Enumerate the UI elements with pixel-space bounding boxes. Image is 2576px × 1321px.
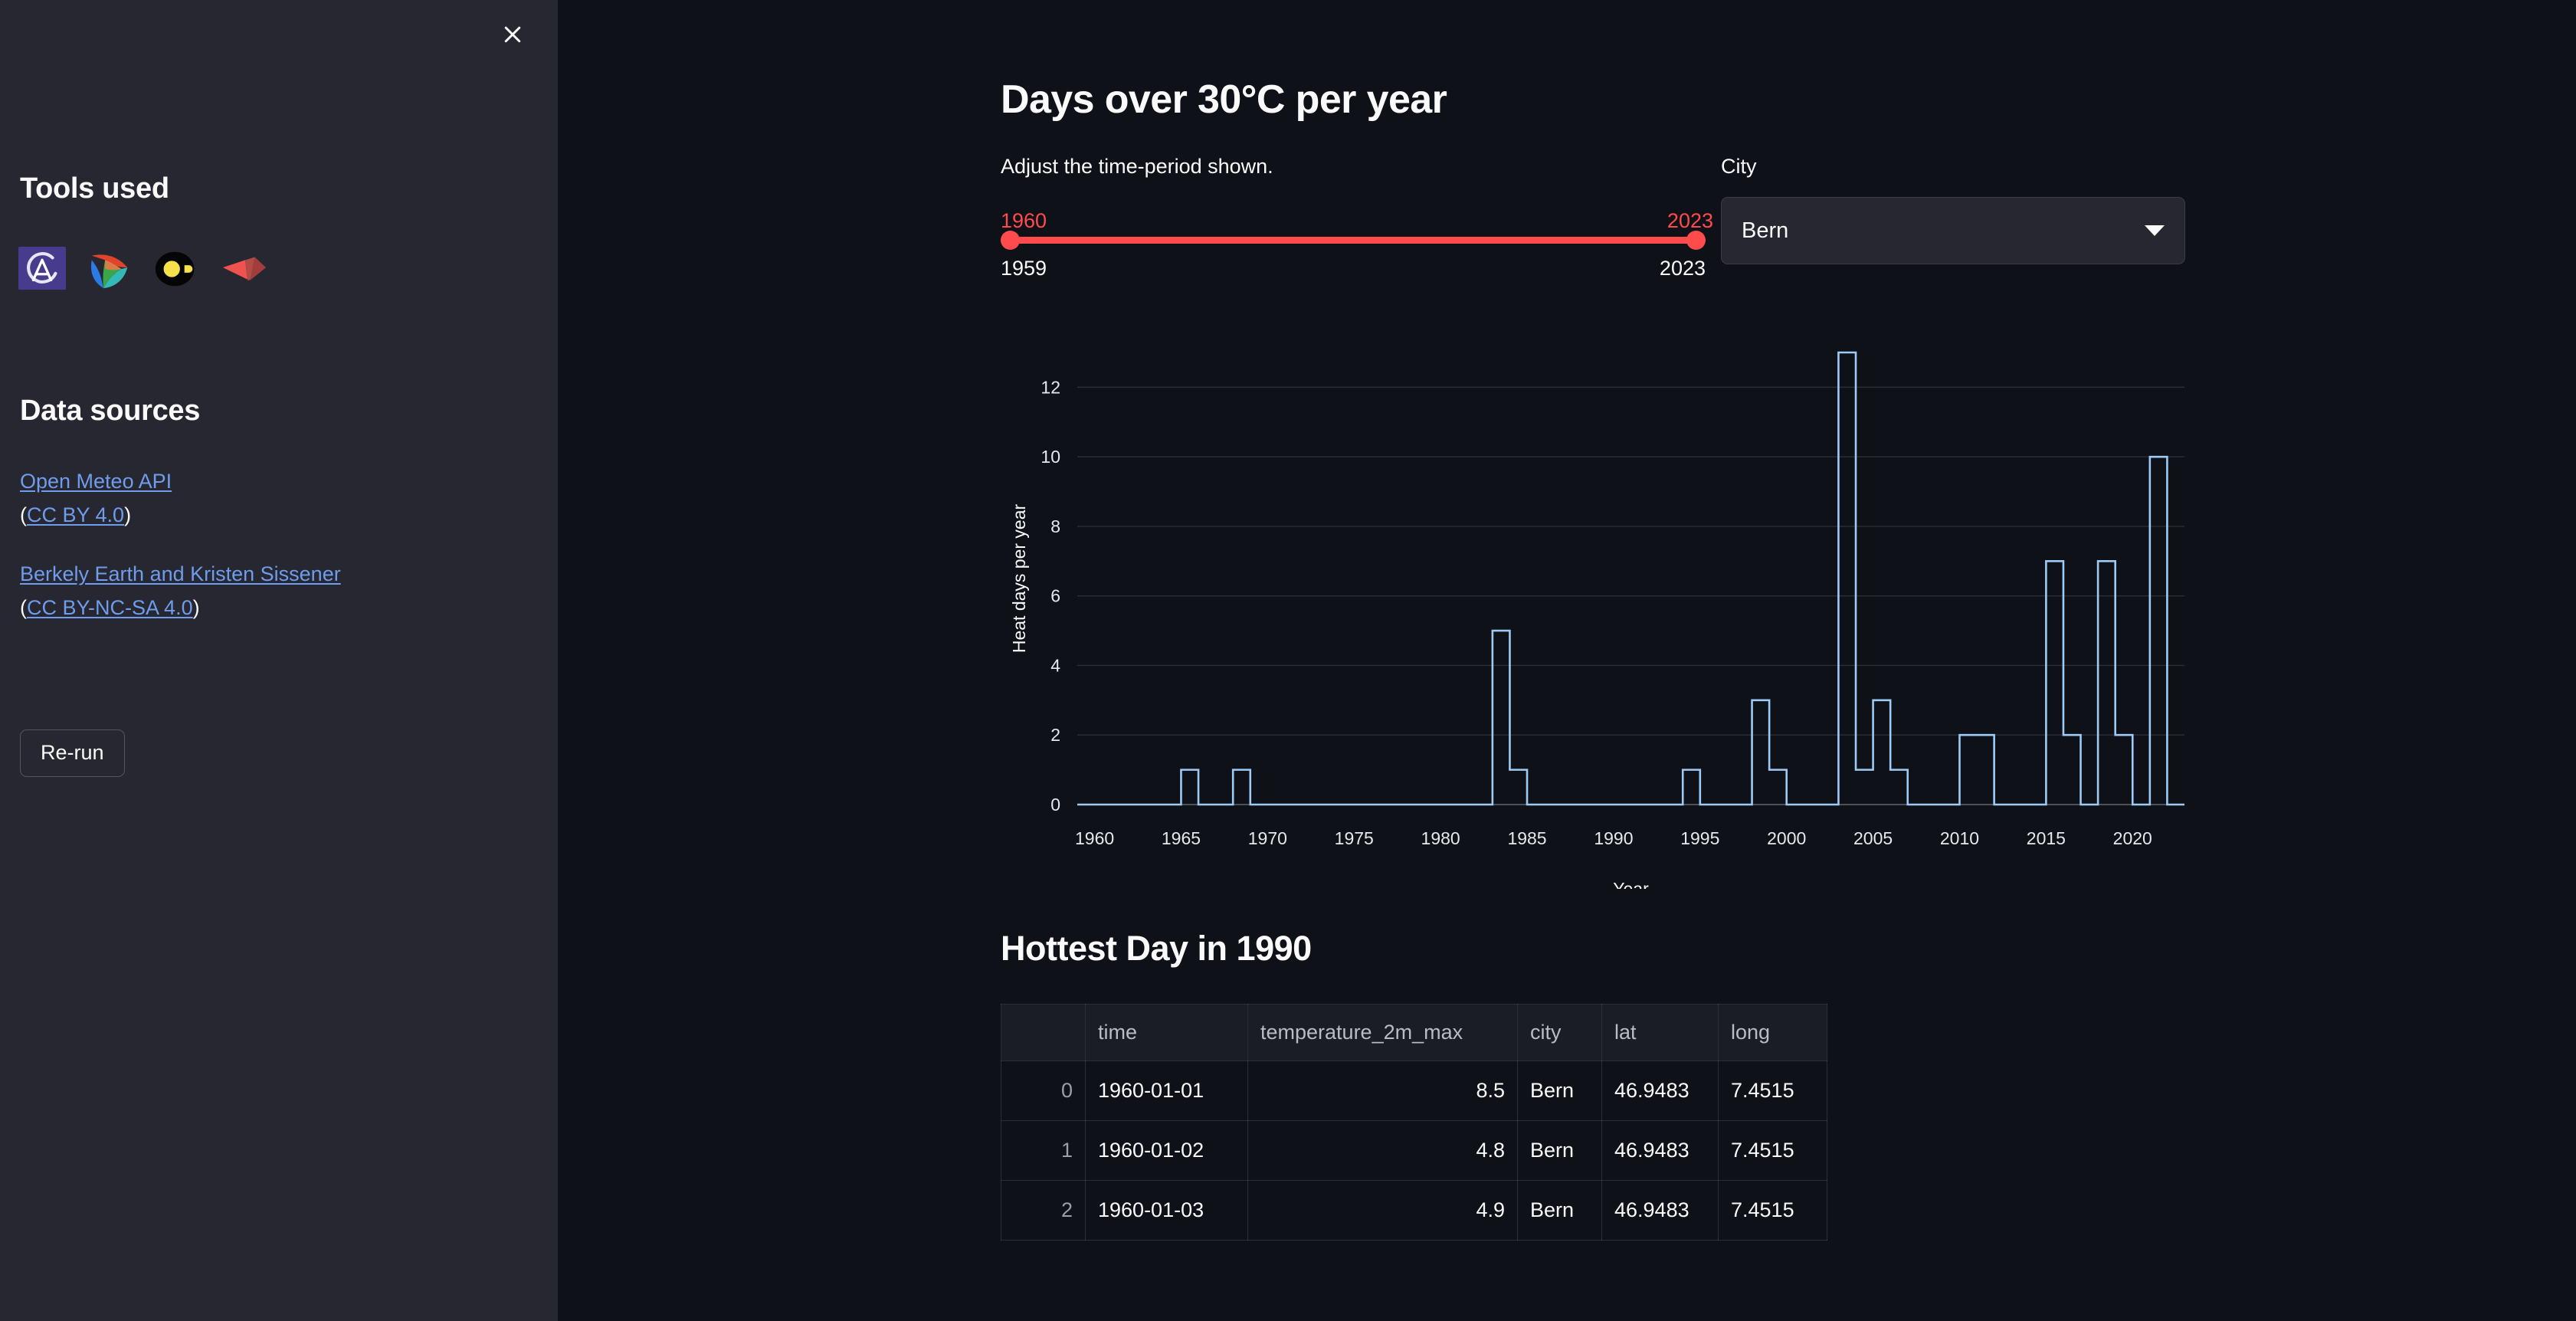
paren-open-1: ( [20, 503, 27, 526]
th-temperature[interactable]: temperature_2m_max [1248, 1005, 1518, 1061]
chart-x-axis-label: Year [1613, 879, 1649, 889]
time-period-slider[interactable]: 1960 2023 1959 2023 [1001, 214, 1713, 249]
slider-bound-labels: 1959 2023 [1001, 257, 1706, 280]
th-city[interactable]: city [1518, 1005, 1602, 1061]
chart-x-tick: 1990 [1594, 828, 1633, 848]
slider-bound-min: 1959 [1001, 257, 1047, 280]
chart-gridlines [1077, 387, 2184, 805]
slider-bound-max: 2023 [1660, 257, 1706, 280]
slider-thumb-low[interactable] [1001, 231, 1020, 250]
cell-city: Bern [1518, 1181, 1602, 1241]
table-header-row: time temperature_2m_max city lat long [1001, 1005, 1827, 1061]
chart-y-tick: 2 [1050, 725, 1060, 745]
cell-time: 1960-01-03 [1086, 1181, 1248, 1241]
slider-value-low: 1960 [1001, 209, 1047, 233]
cell-temperature: 4.9 [1248, 1181, 1518, 1241]
slider-thumb-high[interactable] [1686, 231, 1706, 250]
close-icon [501, 23, 524, 46]
city-label: City [1721, 153, 2185, 180]
cell-index: 0 [1001, 1061, 1086, 1121]
page-title: Days over 30°C per year [1001, 0, 2533, 123]
heat-days-chart-svg: 024681012 196019651970197519801985199019… [1001, 329, 2196, 889]
chart-x-tick: 1965 [1162, 828, 1201, 848]
cell-temperature: 8.5 [1248, 1061, 1518, 1121]
paren-close-2: ) [193, 596, 200, 619]
anaconda-assistant-icon [18, 245, 66, 293]
table-section-title: Hottest Day in 1990 [1001, 929, 2533, 969]
cell-lat: 46.9483 [1602, 1061, 1719, 1121]
table-row: 21960-01-034.9Bern46.94837.4515 [1001, 1181, 1827, 1241]
sidebar: Tools used [0, 0, 558, 1321]
chart-x-tick: 1970 [1248, 828, 1287, 848]
th-time[interactable]: time [1086, 1005, 1248, 1061]
cell-long: 7.4515 [1719, 1121, 1827, 1181]
data-sources-heading: Data sources [20, 395, 200, 428]
chart-y-tick: 6 [1050, 586, 1060, 606]
slider-label: Adjust the time-period shown. [1001, 153, 1713, 180]
chart-y-tick: 4 [1050, 655, 1060, 675]
chart-x-tick: 1985 [1507, 828, 1546, 848]
chevron-down-icon [2145, 225, 2165, 236]
paren-close-1: ) [124, 503, 131, 526]
cell-long: 7.4515 [1719, 1181, 1827, 1241]
chart-y-tick-labels: 024681012 [1041, 377, 1060, 815]
data-source-1: Open Meteo API (CC BY 4.0) [20, 465, 510, 532]
chart-y-tick: 8 [1050, 516, 1060, 536]
chart-y-tick: 10 [1041, 447, 1060, 467]
chart-y-axis-label: Heat days per year [1009, 504, 1029, 654]
cell-long: 7.4515 [1719, 1061, 1827, 1121]
chart-x-tick: 1980 [1421, 828, 1460, 848]
chart-x-tick: 1960 [1075, 828, 1114, 848]
slider-rail[interactable] [1001, 237, 1706, 244]
chart-step-series [1077, 352, 2184, 805]
cell-time: 1960-01-02 [1086, 1121, 1248, 1181]
table-row: 11960-01-024.8Bern46.94837.4515 [1001, 1121, 1827, 1181]
streamlit-icon [221, 245, 268, 293]
main-content: Days over 30°C per year Adjust the time-… [558, 0, 2576, 1321]
time-period-slider-block: Adjust the time-period shown. 1960 2023 … [1001, 153, 1713, 249]
cell-time: 1960-01-01 [1086, 1061, 1248, 1121]
th-index[interactable] [1001, 1005, 1086, 1061]
chart-y-tick: 12 [1041, 377, 1060, 397]
data-sources-heading-wrap: Data sources [20, 395, 200, 428]
data-sources-body: Open Meteo API (CC BY 4.0) Berkely Earth… [20, 465, 510, 651]
open-meteo-api-link[interactable]: Open Meteo API [20, 470, 172, 493]
cc-by-40-link[interactable]: CC BY 4.0 [27, 503, 124, 526]
app-root: Tools used [0, 0, 2576, 1321]
pandas-icon [153, 245, 201, 293]
chart-x-tick: 2010 [1940, 828, 1979, 848]
table-header: time temperature_2m_max city lat long [1001, 1005, 1827, 1061]
tools-icon-row [18, 245, 268, 293]
city-select[interactable]: Bern [1721, 197, 2185, 264]
chart-x-tick: 2020 [2113, 828, 2152, 848]
hottest-day-table-block: Hottest Day in 1990 time temperature_2m_… [1001, 929, 2533, 1241]
cell-index: 1 [1001, 1121, 1086, 1181]
cell-city: Bern [1518, 1061, 1602, 1121]
paren-open-2: ( [20, 596, 27, 619]
cell-lat: 46.9483 [1602, 1181, 1719, 1241]
controls-row: Adjust the time-period shown. 1960 2023 … [1001, 153, 2533, 306]
cell-index: 2 [1001, 1181, 1086, 1241]
table-body: 01960-01-018.5Bern46.94837.451511960-01-… [1001, 1061, 1827, 1241]
cell-lat: 46.9483 [1602, 1121, 1719, 1181]
th-lat[interactable]: lat [1602, 1005, 1719, 1061]
close-sidebar-button[interactable] [489, 11, 536, 58]
berkeley-earth-link[interactable]: Berkely Earth and Kristen Sissener [20, 562, 341, 585]
chart-x-tick: 2015 [2027, 828, 2066, 848]
table-row: 01960-01-018.5Bern46.94837.4515 [1001, 1061, 1827, 1121]
data-source-2: Berkely Earth and Kristen Sissener (CC B… [20, 558, 510, 624]
re-run-button[interactable]: Re-run [20, 729, 125, 777]
apache-airflow-icon [86, 245, 133, 293]
tools-used-heading-wrap: Tools used [20, 172, 169, 205]
city-selected-value: Bern [1742, 218, 1788, 244]
cc-by-nc-sa-40-link[interactable]: CC BY-NC-SA 4.0 [27, 596, 193, 619]
chart-x-tick: 1975 [1335, 828, 1374, 848]
city-select-block: City Bern [1721, 153, 2185, 264]
chart-x-tick-labels: 1960196519701975198019851990199520002005… [1075, 828, 2152, 848]
slider-value-labels: 1960 2023 [1001, 209, 1713, 233]
cell-temperature: 4.8 [1248, 1121, 1518, 1181]
chart-x-tick: 1995 [1680, 828, 1719, 848]
chart-y-tick: 0 [1050, 795, 1060, 815]
cell-city: Bern [1518, 1121, 1602, 1181]
chart-x-tick: 2000 [1767, 828, 1806, 848]
slider-value-high: 2023 [1667, 209, 1713, 233]
tools-used-heading: Tools used [20, 172, 169, 205]
chart-x-tick: 2005 [1853, 828, 1893, 848]
heat-days-chart: 024681012 196019651970197519801985199019… [1001, 329, 2196, 889]
hottest-day-table: time temperature_2m_max city lat long 01… [1001, 1004, 1827, 1241]
th-long[interactable]: long [1719, 1005, 1827, 1061]
